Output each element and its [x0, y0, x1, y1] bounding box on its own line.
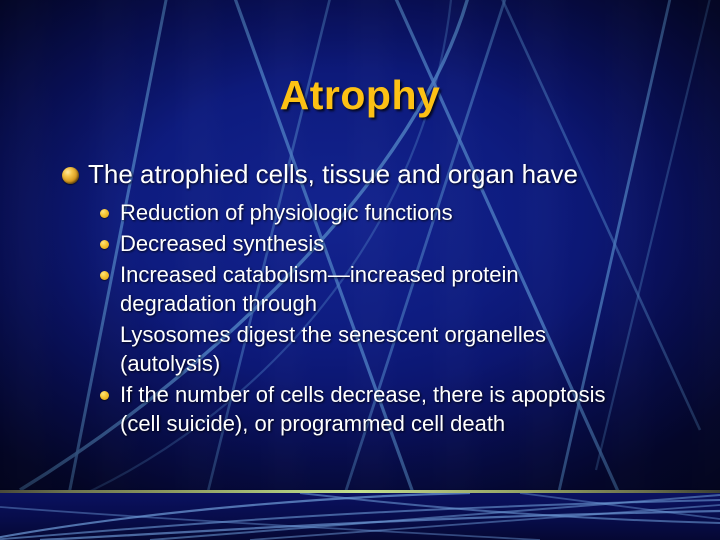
- list-item: Increased catabolism—increased protein d…: [0, 260, 720, 318]
- list-item: Reduction of physiologic functions: [0, 198, 720, 227]
- list-item: Decreased synthesis: [0, 229, 720, 258]
- bullet-line: Reduction of physiologic functions: [120, 198, 702, 227]
- footer-band: [0, 493, 720, 540]
- bullet-line: Decreased synthesis: [120, 229, 702, 258]
- yellow-dot-bullet-icon: [100, 391, 109, 400]
- slide-title: Atrophy: [0, 72, 720, 119]
- footer-decor-arcs: [0, 493, 720, 540]
- sub-bullet-list: Reduction of physiologic functions Decre…: [0, 198, 720, 438]
- list-item: Lysosomes digest the senescent organelle…: [0, 320, 720, 378]
- bullet-line: Lysosomes digest the senescent organelle…: [120, 320, 702, 349]
- yellow-dot-bullet-icon: [100, 271, 109, 280]
- lead-bullet-text: The atrophied cells, tissue and organ ha…: [88, 159, 578, 189]
- lead-bullet-item: The atrophied cells, tissue and organ ha…: [0, 158, 720, 190]
- slide-body: The atrophied cells, tissue and organ ha…: [0, 158, 720, 440]
- list-item: If the number of cells decrease, there i…: [0, 380, 720, 438]
- bullet-line-continuation: degradation through: [120, 289, 702, 318]
- gold-sphere-bullet-icon: [62, 167, 79, 184]
- yellow-dot-bullet-icon: [100, 240, 109, 249]
- yellow-dot-bullet-icon: [100, 209, 109, 218]
- bullet-line-continuation: (cell suicide), or programmed cell death: [120, 409, 702, 438]
- presentation-slide: Atrophy The atrophied cells, tissue and …: [0, 0, 720, 540]
- bullet-line-continuation: (autolysis): [120, 349, 702, 378]
- bullet-line: Increased catabolism—increased protein: [120, 260, 702, 289]
- bullet-line: If the number of cells decrease, there i…: [120, 380, 702, 409]
